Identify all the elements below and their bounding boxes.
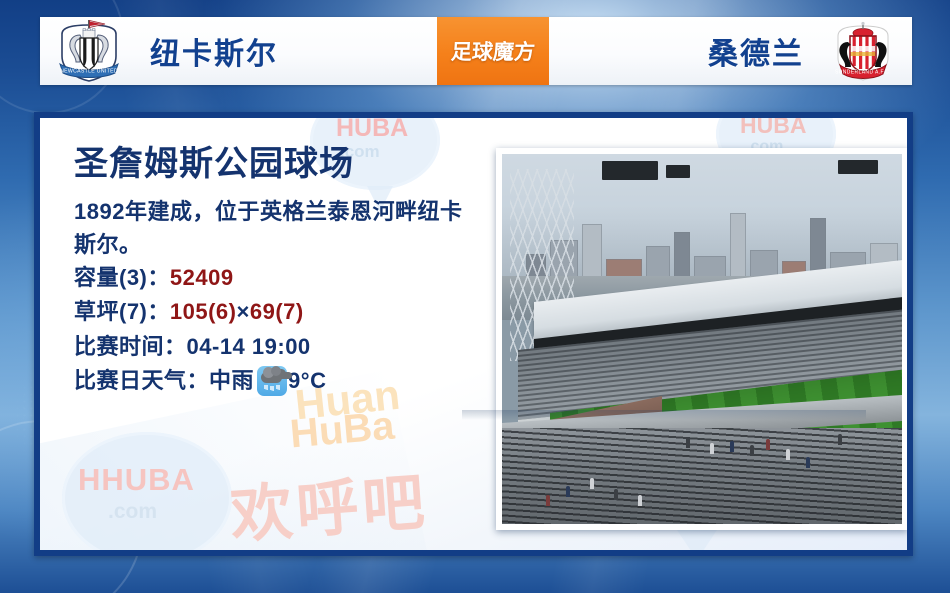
photo-near-terrace-seating	[502, 428, 902, 524]
watermark-orange-text-2: HuBa	[288, 404, 396, 458]
watermark-bubble-left	[62, 432, 232, 556]
pitch-width-value: 69(7)	[250, 295, 304, 329]
watermark-bubble-right-text: HUBA	[740, 112, 806, 139]
capacity-line: 容量(3)： 52409	[74, 261, 494, 295]
photo-tv-gantry-2	[666, 165, 690, 178]
photo-tv-gantry-1	[602, 161, 658, 180]
moderate-rain-icon	[257, 366, 287, 396]
away-team-name: 桑德兰	[708, 29, 804, 73]
photo-tv-gantry-3	[838, 160, 878, 175]
match-time-value: 04-14 19:00	[187, 330, 311, 364]
match-header-bar: NEWCASTLE UNITED 纽卡斯尔 足球魔方 桑德兰	[40, 17, 912, 85]
match-weather-line: 比赛日天气： 中雨 9°C	[74, 364, 494, 398]
venue-info-panel: HUBA .com HUBA .com HHUBA .com Huan HuBa…	[34, 112, 913, 556]
venue-info-text-block: 圣詹姆斯公园球场 1892年建成，位于英格兰泰恩河畔纽卡斯尔。 容量(3)： 5…	[74, 146, 494, 398]
home-team-name: 纽卡斯尔	[150, 29, 278, 73]
match-time-line: 比赛时间： 04-14 19:00	[74, 330, 494, 364]
pitch-size-line: 草坪(7)： 105(6) × 69(7)	[74, 295, 494, 329]
watermark-bubble-top-text: HUBA	[336, 114, 408, 143]
newcastle-united-crest: NEWCASTLE UNITED	[52, 18, 126, 84]
brand-logo[interactable]: 足球魔方	[437, 17, 549, 85]
match-weather-temperature: 9°C	[288, 364, 326, 398]
watermark-bubble-left-text: HHUBA	[78, 462, 195, 498]
capacity-value: 52409	[170, 261, 234, 295]
venue-description: 1892年建成，位于英格兰泰恩河畔纽卡斯尔。	[74, 195, 482, 261]
watermark-bubble-left-domain: .com	[108, 500, 157, 524]
svg-text:SUNDERLAND A.F.C.: SUNDERLAND A.F.C.	[835, 70, 891, 76]
pitch-times-symbol: ×	[236, 295, 249, 329]
pitch-size-label: 草坪(7)：	[74, 295, 170, 329]
brand-logo-text: 足球魔方	[450, 36, 536, 66]
sunderland-afc-crest: SUNDERLAND A.F.C.	[826, 18, 900, 84]
stadium-photo: NEWCASTLE UNITED	[502, 154, 902, 524]
match-weather-label: 比赛日天气：	[74, 364, 209, 398]
match-info-graphic: NEWCASTLE UNITED 纽卡斯尔 足球魔方 桑德兰	[0, 0, 950, 593]
svg-text:NEWCASTLE UNITED: NEWCASTLE UNITED	[60, 69, 118, 75]
watermark-red-text: 欢呼吧	[227, 451, 431, 555]
stadium-photo-frame: NEWCASTLE UNITED	[496, 148, 908, 530]
pitch-length-value: 105(6)	[170, 295, 237, 329]
match-time-label: 比赛时间：	[74, 330, 187, 364]
venue-title: 圣詹姆斯公园球场	[74, 146, 494, 183]
capacity-label: 容量(3)：	[74, 261, 170, 295]
match-weather-value: 中雨	[209, 364, 254, 398]
